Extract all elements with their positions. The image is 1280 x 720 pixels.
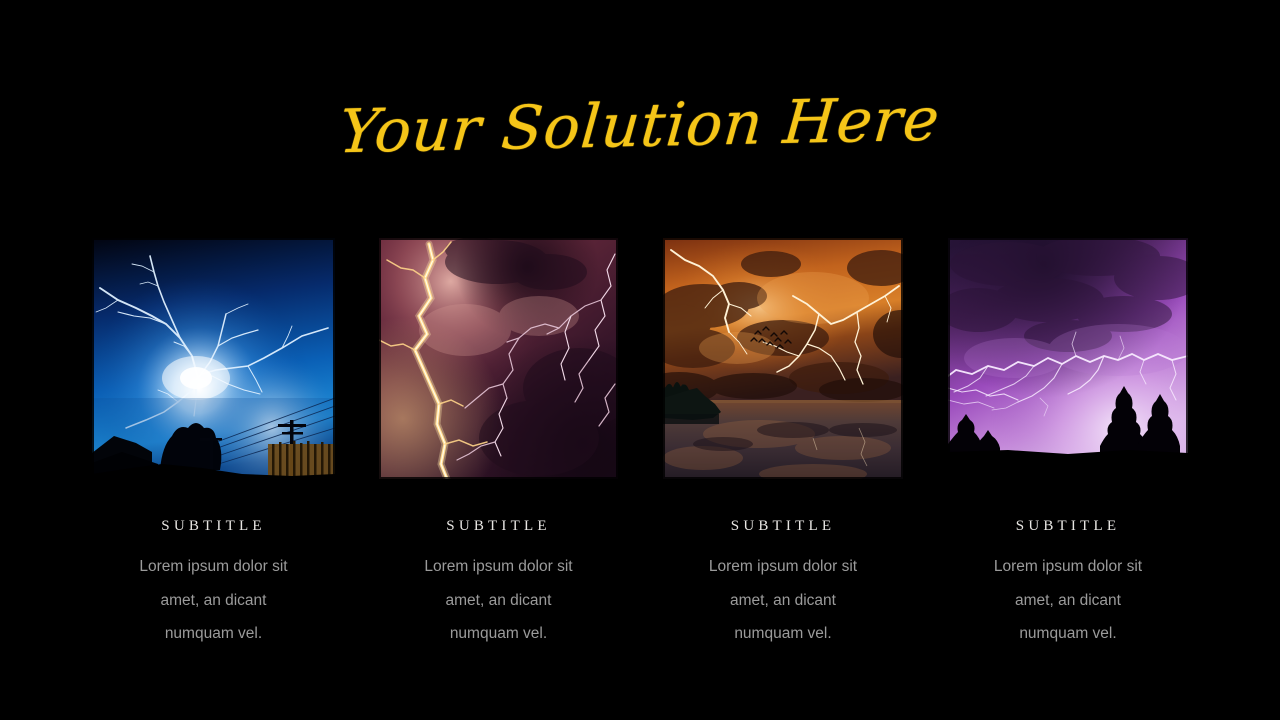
column-4-body-line-3: numquam vel. [948, 617, 1188, 651]
column-2-body-line-1: Lorem ipsum dolor sit [379, 550, 618, 584]
column-1-subtitle: SUBTITLE [92, 481, 335, 534]
column-4-body: Lorem ipsum dolor sit amet, an dicant nu… [948, 550, 1188, 651]
column-4[interactable]: SUBTITLE Lorem ipsum dolor sit amet, an … [948, 238, 1188, 651]
column-2-body: Lorem ipsum dolor sit amet, an dicant nu… [379, 550, 618, 651]
column-2-body-line-3: numquam vel. [379, 617, 618, 651]
column-4-subtitle: SUBTITLE [948, 460, 1188, 534]
orange-sunset-storm-over-sea-photo[interactable] [663, 238, 903, 479]
column-1[interactable]: SUBTITLE Lorem ipsum dolor sit amet, an … [92, 238, 335, 651]
column-4-body-line-1: Lorem ipsum dolor sit [948, 550, 1188, 584]
column-2-body-line-2: amet, an dicant [379, 584, 618, 618]
slide-canvas: Your Solution Here [0, 0, 1280, 720]
column-3-body-line-1: Lorem ipsum dolor sit [663, 550, 903, 584]
column-2-caption: SUBTITLE Lorem ipsum dolor sit amet, an … [379, 479, 618, 651]
blue-lightning-over-suburb-photo[interactable] [92, 238, 335, 481]
columns-row: SUBTITLE Lorem ipsum dolor sit amet, an … [0, 238, 1280, 658]
column-1-body-line-3: numquam vel. [92, 617, 335, 651]
column-3-body: Lorem ipsum dolor sit amet, an dicant nu… [663, 550, 903, 651]
column-2[interactable]: SUBTITLE Lorem ipsum dolor sit amet, an … [379, 238, 618, 651]
column-4-body-line-2: amet, an dicant [948, 584, 1188, 618]
purple-sky-lightning-pines-photo[interactable] [948, 238, 1188, 460]
column-3-subtitle: SUBTITLE [663, 479, 903, 534]
column-1-caption: SUBTITLE Lorem ipsum dolor sit amet, an … [92, 481, 335, 651]
column-2-subtitle: SUBTITLE [379, 479, 618, 534]
column-1-body: Lorem ipsum dolor sit amet, an dicant nu… [92, 550, 335, 651]
column-3-body-line-2: amet, an dicant [663, 584, 903, 618]
column-3-body-line-3: numquam vel. [663, 617, 903, 651]
magenta-storm-lightning-photo[interactable] [379, 238, 618, 479]
column-1-body-line-2: amet, an dicant [92, 584, 335, 618]
column-3[interactable]: SUBTITLE Lorem ipsum dolor sit amet, an … [663, 238, 903, 651]
column-4-caption: SUBTITLE Lorem ipsum dolor sit amet, an … [948, 460, 1188, 651]
page-title: Your Solution Here [337, 90, 942, 163]
column-3-caption: SUBTITLE Lorem ipsum dolor sit amet, an … [663, 479, 903, 651]
title-block: Your Solution Here [0, 96, 1280, 156]
column-1-body-line-1: Lorem ipsum dolor sit [92, 550, 335, 584]
